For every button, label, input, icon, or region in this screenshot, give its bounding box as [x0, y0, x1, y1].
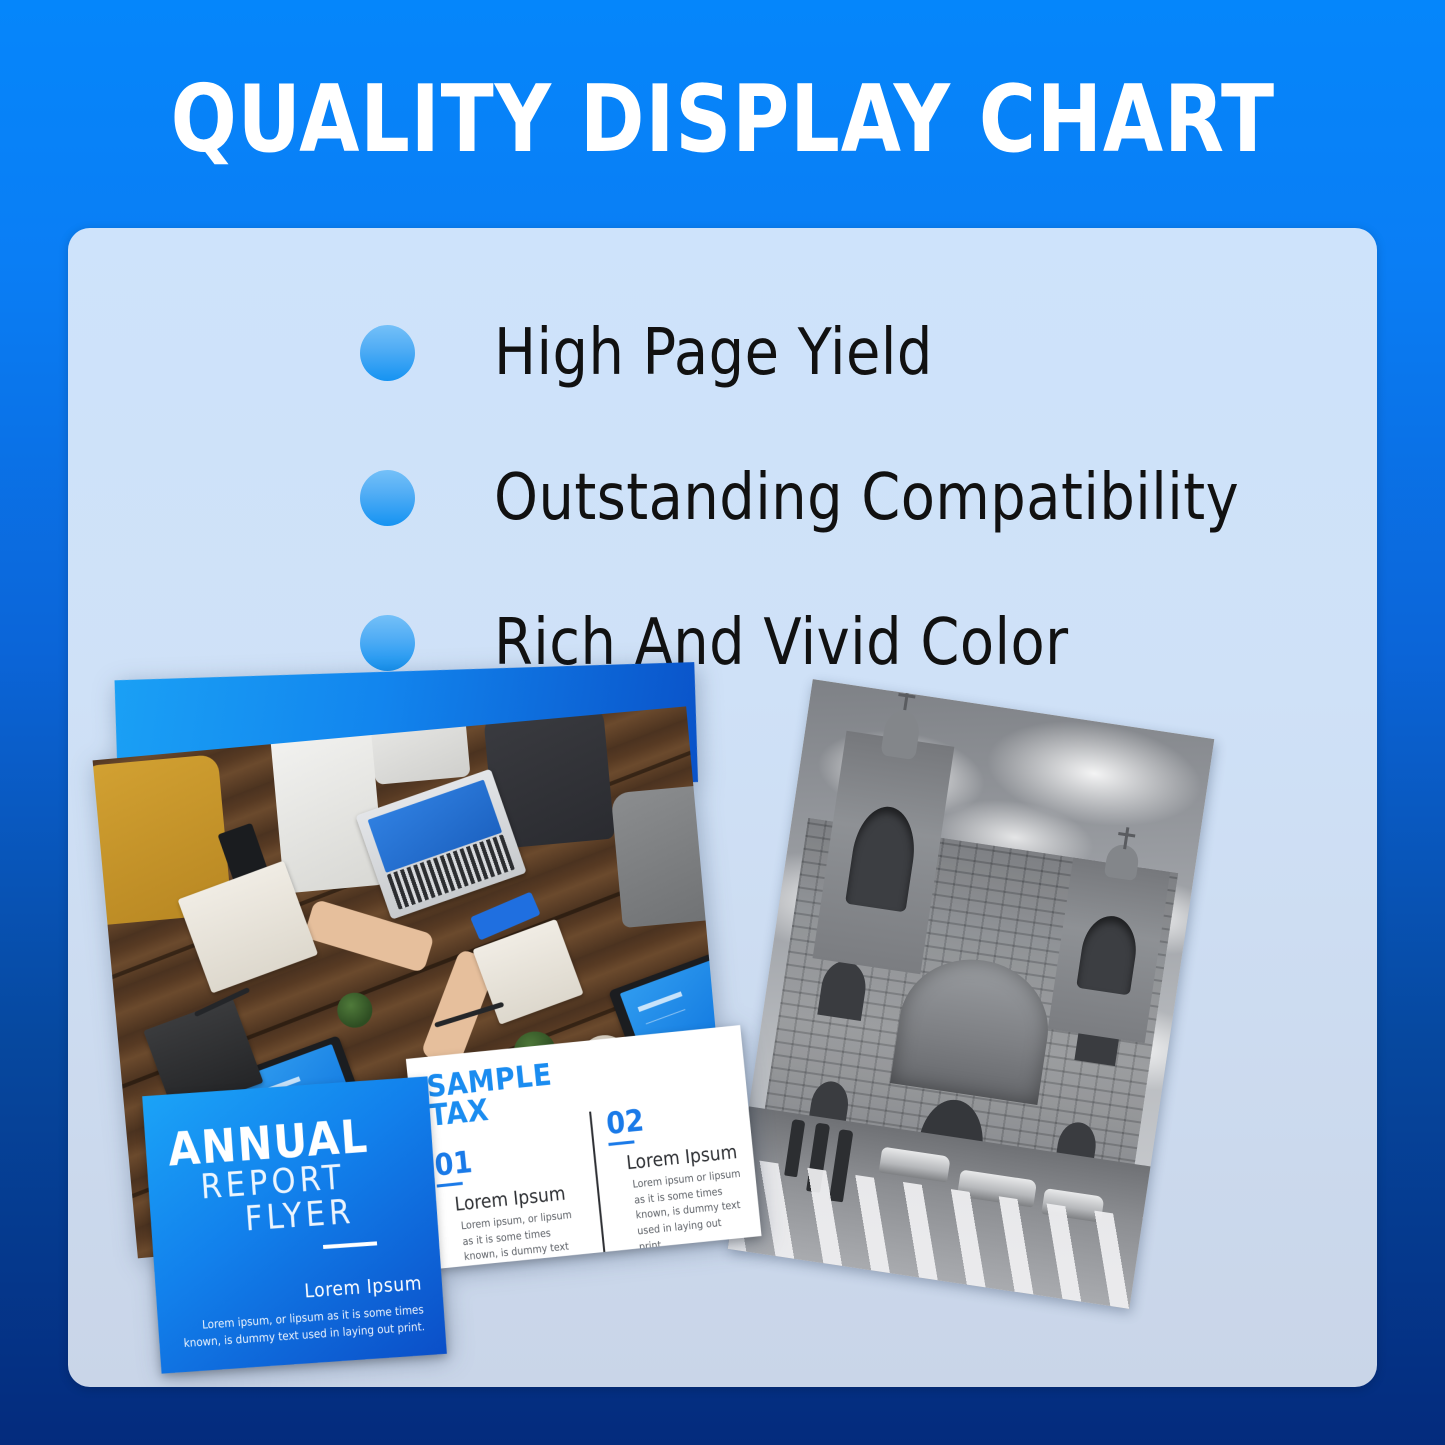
list-item: High Page Yield — [360, 280, 1300, 425]
person-white-shirt — [269, 715, 385, 893]
feature-label: High Page Yield — [494, 316, 933, 390]
belfry-opening — [1076, 912, 1141, 995]
item-body: Lorem ipsum, or lipsum as it is some tim… — [460, 1206, 591, 1269]
promo-graphic-root: QUALITY DISPLAY CHART High Page Yield Ou… — [0, 0, 1445, 1445]
item-number: 01 — [433, 1137, 580, 1181]
list-item: Outstanding Compatibility — [360, 425, 1300, 570]
bullet-dot-icon — [360, 325, 415, 381]
sample-tax-item: 02 Lorem Ipsum Lorem ipsum or lipsum as … — [589, 1097, 749, 1268]
belfry-opening — [845, 803, 921, 912]
annual-report-flyer-panel: ANNUAL REPORT FLYER Lorem Ipsum Lorem ip… — [142, 1076, 447, 1373]
sample-tax-columns: 01 Lorem Ipsum Lorem ipsum, or lipsum as… — [433, 1121, 749, 1270]
print-sample-stage: SAMPLE TAX 01 Lorem Ipsum Lorem ipsum, o… — [68, 628, 1377, 1387]
church-photo — [728, 679, 1215, 1309]
feature-label: Outstanding Compatibility — [494, 461, 1239, 535]
sample-tax-item: 01 Lorem Ipsum Lorem ipsum, or lipsum as… — [433, 1137, 591, 1270]
item-body: Lorem ipsum or lipsum as it is some time… — [632, 1167, 748, 1256]
sample-tax-panel: SAMPLE TAX 01 Lorem Ipsum Lorem ipsum, o… — [406, 1025, 762, 1270]
flyer-composite: SAMPLE TAX 01 Lorem Ipsum Lorem ipsum, o… — [86, 628, 749, 1380]
content-card: High Page Yield Outstanding Compatibilit… — [68, 228, 1377, 1387]
title-bar: QUALITY DISPLAY CHART — [0, 0, 1445, 230]
page-title: QUALITY DISPLAY CHART — [170, 65, 1275, 166]
flyer-body-text: Lorem ipsum, or lipsum as it is some tim… — [180, 1301, 426, 1351]
flyer-title-line3: FLYER — [244, 1191, 418, 1239]
flyer-divider-rule — [323, 1241, 377, 1249]
bullet-dot-icon — [360, 470, 415, 526]
person-right-side — [610, 784, 729, 928]
